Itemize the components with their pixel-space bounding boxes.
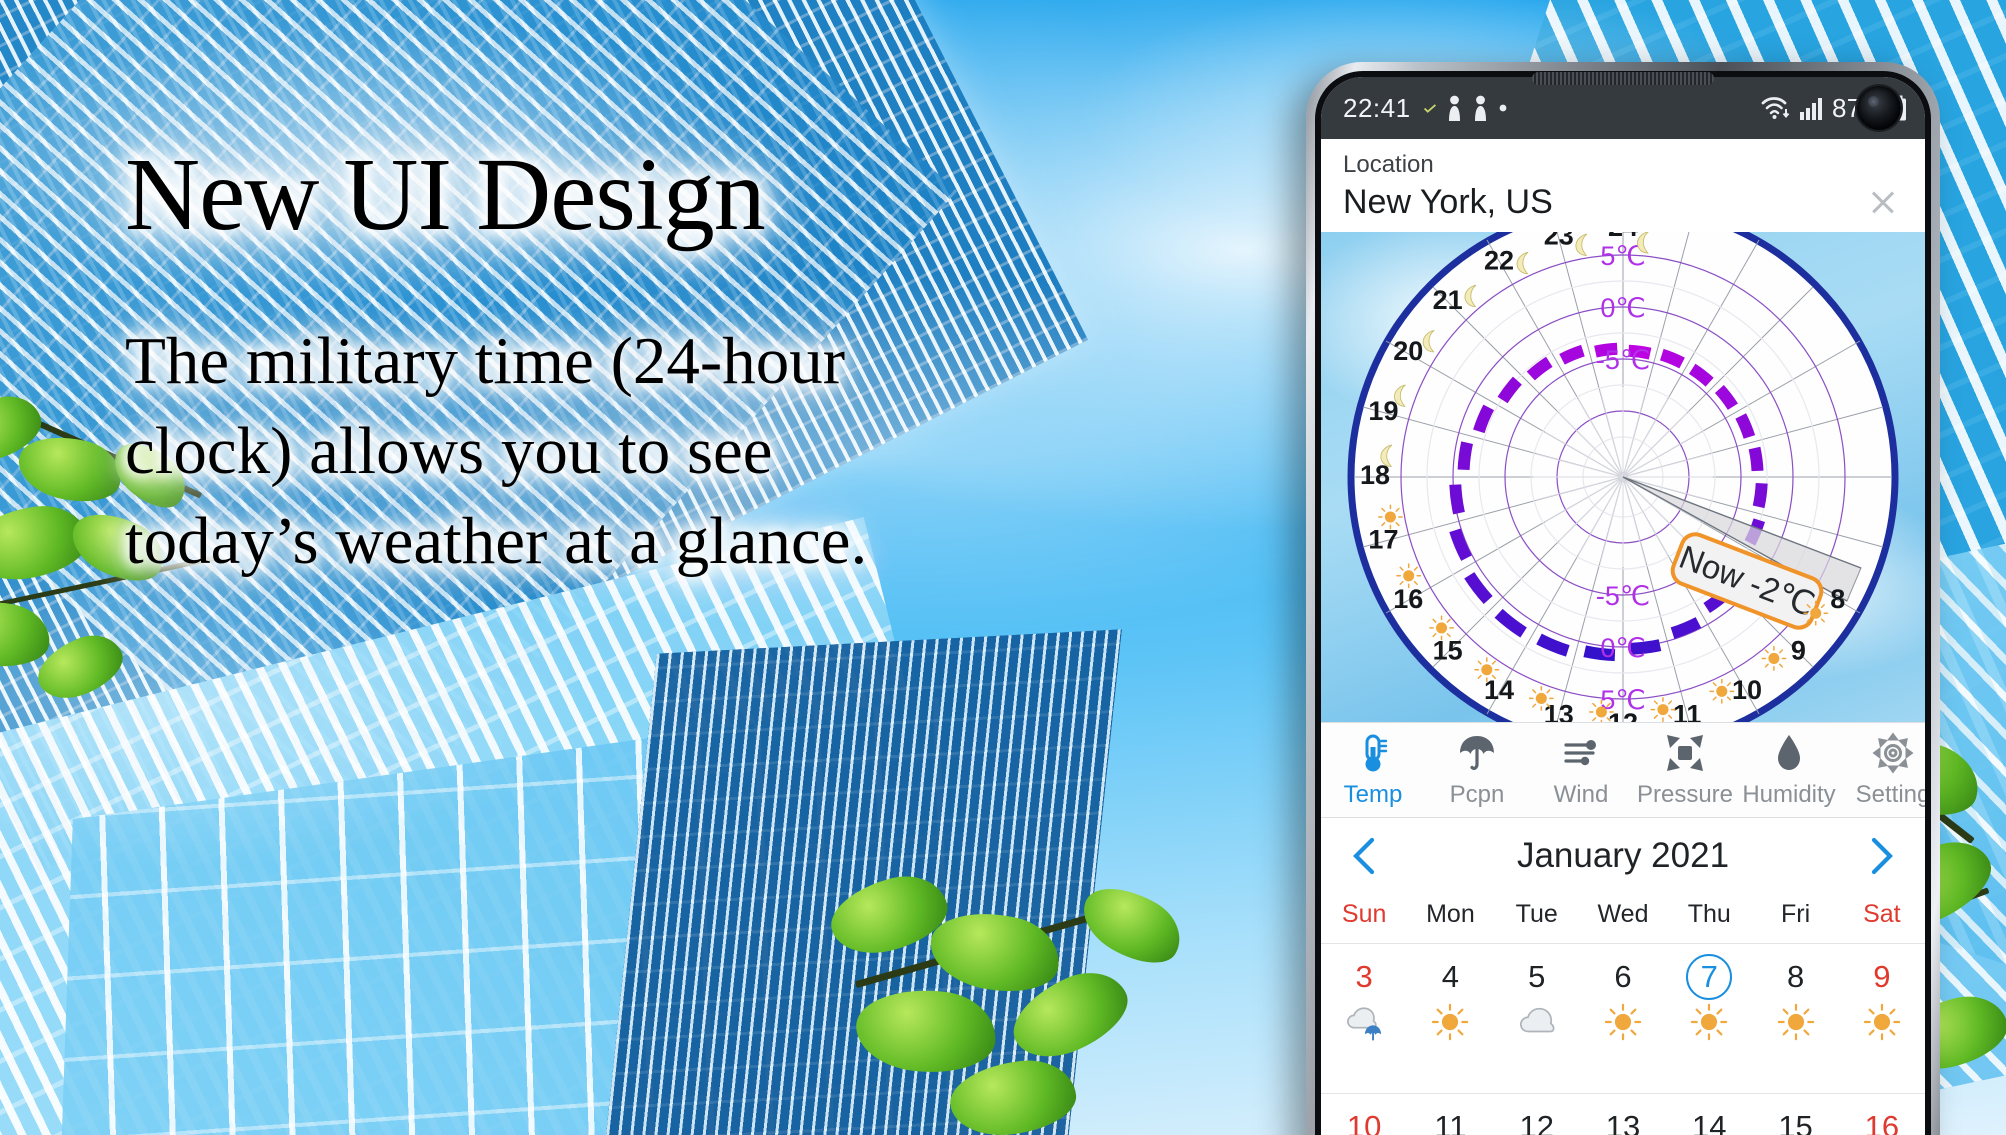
calendar-day-name: Wed: [1580, 900, 1666, 929]
tab-label: Temp: [1344, 781, 1403, 809]
earpiece-speaker-icon: [1532, 72, 1714, 85]
thermometer-icon: [1351, 731, 1395, 775]
hour-label: 13: [1544, 700, 1574, 722]
hour-label: 21: [1433, 285, 1463, 315]
calendar-day-cell[interactable]: 6: [1580, 954, 1666, 1093]
droplet-icon: [1767, 731, 1811, 775]
sun-icon: [1604, 1003, 1642, 1041]
temperature-bar: [1455, 485, 1459, 513]
front-camera-icon: [1857, 86, 1901, 130]
calendar-day-name: Tue: [1494, 900, 1580, 929]
status-bar-notification-icons: [1423, 95, 1508, 121]
sun-icon: [1475, 658, 1498, 681]
chevron-right-icon[interactable]: [1857, 832, 1905, 880]
radial-axis-label: 0℃: [1600, 293, 1645, 323]
person-icon: [1446, 95, 1463, 121]
calendar-day-number: 12: [1514, 1104, 1560, 1135]
calendar-day-cell[interactable]: 11: [1407, 1104, 1493, 1135]
status-bar: 22:41: [1321, 77, 1925, 139]
calendar-day-name: Sat: [1839, 900, 1925, 929]
location-row[interactable]: New York, US: [1321, 182, 1925, 222]
calendar-day-cell[interactable]: 14: [1666, 1104, 1752, 1135]
tab-temp[interactable]: Temp: [1321, 731, 1425, 809]
sun-icon: [1710, 680, 1733, 703]
hour-label: 23: [1544, 232, 1574, 251]
calendar-day-number: 6: [1600, 954, 1646, 1000]
calendar-day-names: SunMonTueWedThuFriSat: [1321, 894, 1925, 944]
calendar-day-name: Thu: [1666, 900, 1752, 929]
calendar-header[interactable]: January 2021: [1321, 818, 1925, 894]
calendar-weather-icon: [1494, 1000, 1580, 1044]
calendar-day-number: 5: [1514, 954, 1560, 1000]
tab-pressure[interactable]: Pressure: [1633, 731, 1737, 809]
calendar-weather-icon: [1580, 1000, 1666, 1044]
temperature-bar: [1464, 443, 1468, 470]
calendar-day-number: 4: [1427, 954, 1473, 1000]
sun-icon: [1430, 616, 1453, 639]
calendar-day-number: 11: [1427, 1104, 1473, 1135]
sun-icon: [1777, 1003, 1815, 1041]
signal-icon: [1799, 95, 1825, 121]
temperature-bar: [1662, 355, 1682, 363]
calendar-day-number: 14: [1686, 1104, 1732, 1135]
calendar-day-number: 13: [1600, 1104, 1646, 1135]
calendar-day-name: Sun: [1321, 900, 1407, 929]
hour-label: 12: [1608, 708, 1638, 722]
calendar-weather-icon: [1839, 1000, 1925, 1044]
wind-icon: [1559, 731, 1603, 775]
phone-screen: 22:41: [1321, 77, 1925, 1135]
sun-icon: [1397, 564, 1420, 587]
hour-label: 19: [1368, 396, 1398, 426]
calendar-month-title: January 2021: [1389, 836, 1857, 876]
umbrella-icon: [1455, 731, 1499, 775]
tab-label: Pcpn: [1450, 781, 1505, 809]
sun-icon: [1804, 602, 1827, 625]
calendar-day-name: Fri: [1752, 900, 1838, 929]
calendar-day-cell[interactable]: 9: [1839, 954, 1925, 1093]
close-icon[interactable]: [1863, 182, 1903, 222]
wifi-icon: [1760, 94, 1792, 122]
dial-chart-svg[interactable]: Now -2℃ 15℃10℃5℃0℃-5℃-5℃0℃5℃10℃15℃ 12345…: [1323, 232, 1923, 722]
hour-label: 24: [1608, 232, 1638, 242]
radial-axis-label: 0℃: [1600, 633, 1645, 663]
hour-label: 16: [1393, 584, 1423, 614]
calendar-day-number: 10: [1341, 1104, 1387, 1135]
temperature-bar: [1759, 483, 1762, 507]
calendar-day-cell[interactable]: 5: [1494, 954, 1580, 1093]
calendar-day-cell[interactable]: 13: [1580, 1104, 1666, 1135]
hour-label: 14: [1484, 675, 1514, 705]
temperature-bar: [1755, 448, 1758, 471]
calendar-day-number: 15: [1773, 1104, 1819, 1135]
location-value[interactable]: New York, US: [1343, 183, 1863, 222]
tab-label: Humidity: [1742, 781, 1835, 809]
tab-pcpn[interactable]: Pcpn: [1425, 731, 1529, 809]
promo-title: New UI Design: [125, 140, 1025, 249]
chevron-left-icon[interactable]: [1341, 832, 1389, 880]
temperature-bar: [1562, 351, 1583, 360]
dot-icon: [1498, 103, 1508, 113]
tab-wind[interactable]: Wind: [1529, 731, 1633, 809]
hour-label: 9: [1791, 635, 1806, 665]
hour-label: 17: [1368, 524, 1398, 554]
promo-text-block: New UI Design The military time (24-hour…: [125, 140, 1025, 586]
hour-label: 8: [1830, 584, 1845, 614]
calendar-day-number: 8: [1773, 954, 1819, 1000]
sun-icon: [1762, 647, 1785, 670]
sun-icon: [1431, 1003, 1469, 1041]
calendar-day-number-today: 7: [1686, 954, 1732, 1000]
calendar-weather-icon: [1666, 1000, 1752, 1044]
calendar-day-cell[interactable]: 4: [1407, 954, 1493, 1093]
radial-axis-label: -5℃: [1596, 581, 1650, 611]
temperature-bar: [1741, 416, 1750, 437]
metric-tabbar[interactable]: Temp Pcpn: [1321, 722, 1925, 818]
calendar-day-cell[interactable]: 12: [1494, 1104, 1580, 1135]
sun-icon: [1651, 698, 1674, 721]
hour-label: 10: [1732, 675, 1762, 705]
sun-icon: [1530, 687, 1553, 710]
tab-humidity[interactable]: Humidity: [1737, 731, 1841, 809]
pressure-icon: [1663, 731, 1707, 775]
sun-icon: [1690, 1003, 1728, 1041]
calendar-day-cell[interactable]: 8: [1752, 954, 1838, 1093]
calendar-weather-icon: [1752, 1000, 1838, 1044]
promo-body-line-3: today’s weather at a glance.: [125, 497, 1025, 587]
gear-icon: [1871, 731, 1915, 775]
radial-temperature-dial[interactable]: Now -2℃ 15℃10℃5℃0℃-5℃-5℃0℃5℃10℃15℃ 12345…: [1321, 232, 1925, 722]
calendar-day-cell[interactable]: 3: [1321, 954, 1407, 1093]
calendar-day-number: 3: [1341, 954, 1387, 1000]
calendar-weather-icon: [1407, 1000, 1493, 1044]
tab-label: Setting: [1856, 781, 1925, 809]
tab-label: Pressure: [1637, 781, 1733, 809]
location-label: Location: [1321, 147, 1925, 182]
tab-label: Wind: [1554, 781, 1609, 809]
calendar-day-number: 16: [1859, 1104, 1905, 1135]
calendar-week-row: 10111213141516: [1321, 1094, 1925, 1135]
phone-bezel: 22:41: [1315, 71, 1931, 1135]
calendar-weather-icon: [1321, 1000, 1407, 1044]
calendar-day-cell[interactable]: 10: [1321, 1104, 1407, 1135]
promo-body-line-2: clock) allows you to see: [125, 407, 1025, 497]
sun-icon: [1379, 505, 1402, 528]
check-icon: [1423, 104, 1437, 113]
cloud-icon: [1518, 1003, 1556, 1041]
calendar-day-cell[interactable]: 16: [1839, 1104, 1925, 1135]
slide-canvas: New UI Design The military time (24-hour…: [0, 0, 2006, 1135]
promo-body-line-1: The military time (24-hour: [125, 317, 1025, 407]
calendar-day-name: Mon: [1407, 900, 1493, 929]
status-bar-clock: 22:41: [1343, 93, 1411, 124]
promo-body: The military time (24-hour clock) allows…: [125, 317, 1025, 586]
calendar-day-number: 9: [1859, 954, 1905, 1000]
hour-label: 22: [1484, 245, 1514, 275]
calendar-day-cell[interactable]: 15: [1752, 1104, 1838, 1135]
hour-label: 11: [1673, 700, 1702, 722]
person-icon: [1472, 95, 1489, 121]
location-section: Location New York, US: [1321, 139, 1925, 232]
calendar-week-row: 3456789: [1321, 944, 1925, 1094]
phone-mockup: 22:41: [1306, 62, 1940, 1135]
calendar-weeks[interactable]: 345678910111213141516: [1321, 944, 1925, 1135]
tab-setting[interactable]: Setting: [1841, 731, 1925, 809]
hour-label: 15: [1433, 635, 1463, 665]
calendar-day-cell[interactable]: 7: [1666, 954, 1752, 1093]
hour-label: 20: [1393, 336, 1423, 366]
cloud-rain-icon: [1345, 1003, 1383, 1041]
radial-axis-label: -5℃: [1596, 345, 1650, 375]
sun-icon: [1863, 1003, 1901, 1041]
